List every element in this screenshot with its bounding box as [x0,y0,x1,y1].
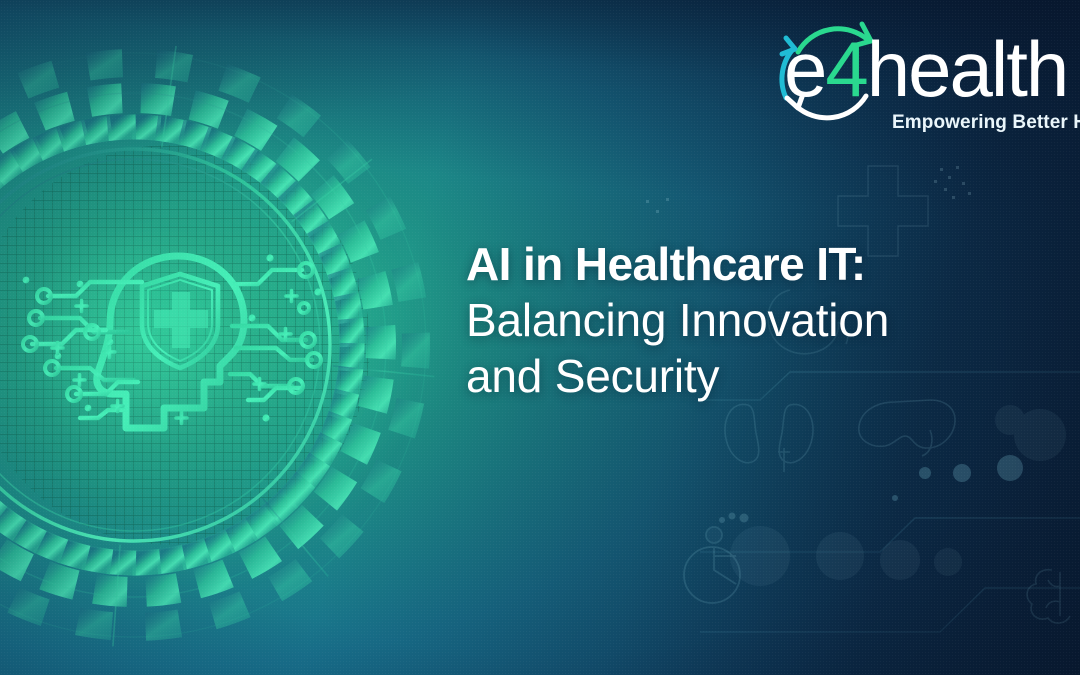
hud-glow [0,120,410,590]
brain-icon [1027,570,1070,623]
logo-wordmark: e4health [784,25,1067,113]
logo-e: e [784,25,825,113]
circuit-plus-left [52,301,123,412]
circuit-traces-left [32,282,142,418]
circuit-dots-left [23,277,114,412]
banner: e4health Empowering Better Hea AI in Hea… [0,0,1080,675]
logo-tagline: Empowering Better Hea [892,112,1080,133]
circuit-dots-right [248,254,321,421]
headline-block: AI in Healthcare IT: Balancing Innovatio… [466,236,1026,404]
kidneys-icon [725,404,813,472]
head-silhouette [97,256,244,428]
shield-with-medical-cross [142,274,218,368]
liver-icon [859,400,955,456]
hud-ring-graphic [0,35,444,655]
headline-line-1: AI in Healthcare IT: [466,236,1026,292]
circuit-nodes-right [289,263,321,393]
logo-health: health [867,25,1068,113]
circuit-nodes-left [23,289,99,401]
hud-core-pixel-grid [0,145,370,545]
ai-security-icon [18,222,348,452]
circuit-plus-center [176,413,187,424]
logo-4: 4 [825,25,867,113]
headline-line-3: and Security [466,348,1026,404]
wheelchair-icon [684,527,740,603]
headline-line-2: Balancing Innovation [466,292,1026,348]
circuit-traces-right [230,270,312,400]
e4health-logo[interactable]: e4health Empowering Better Hea [762,16,1080,138]
circuit-plus-right [254,291,297,390]
